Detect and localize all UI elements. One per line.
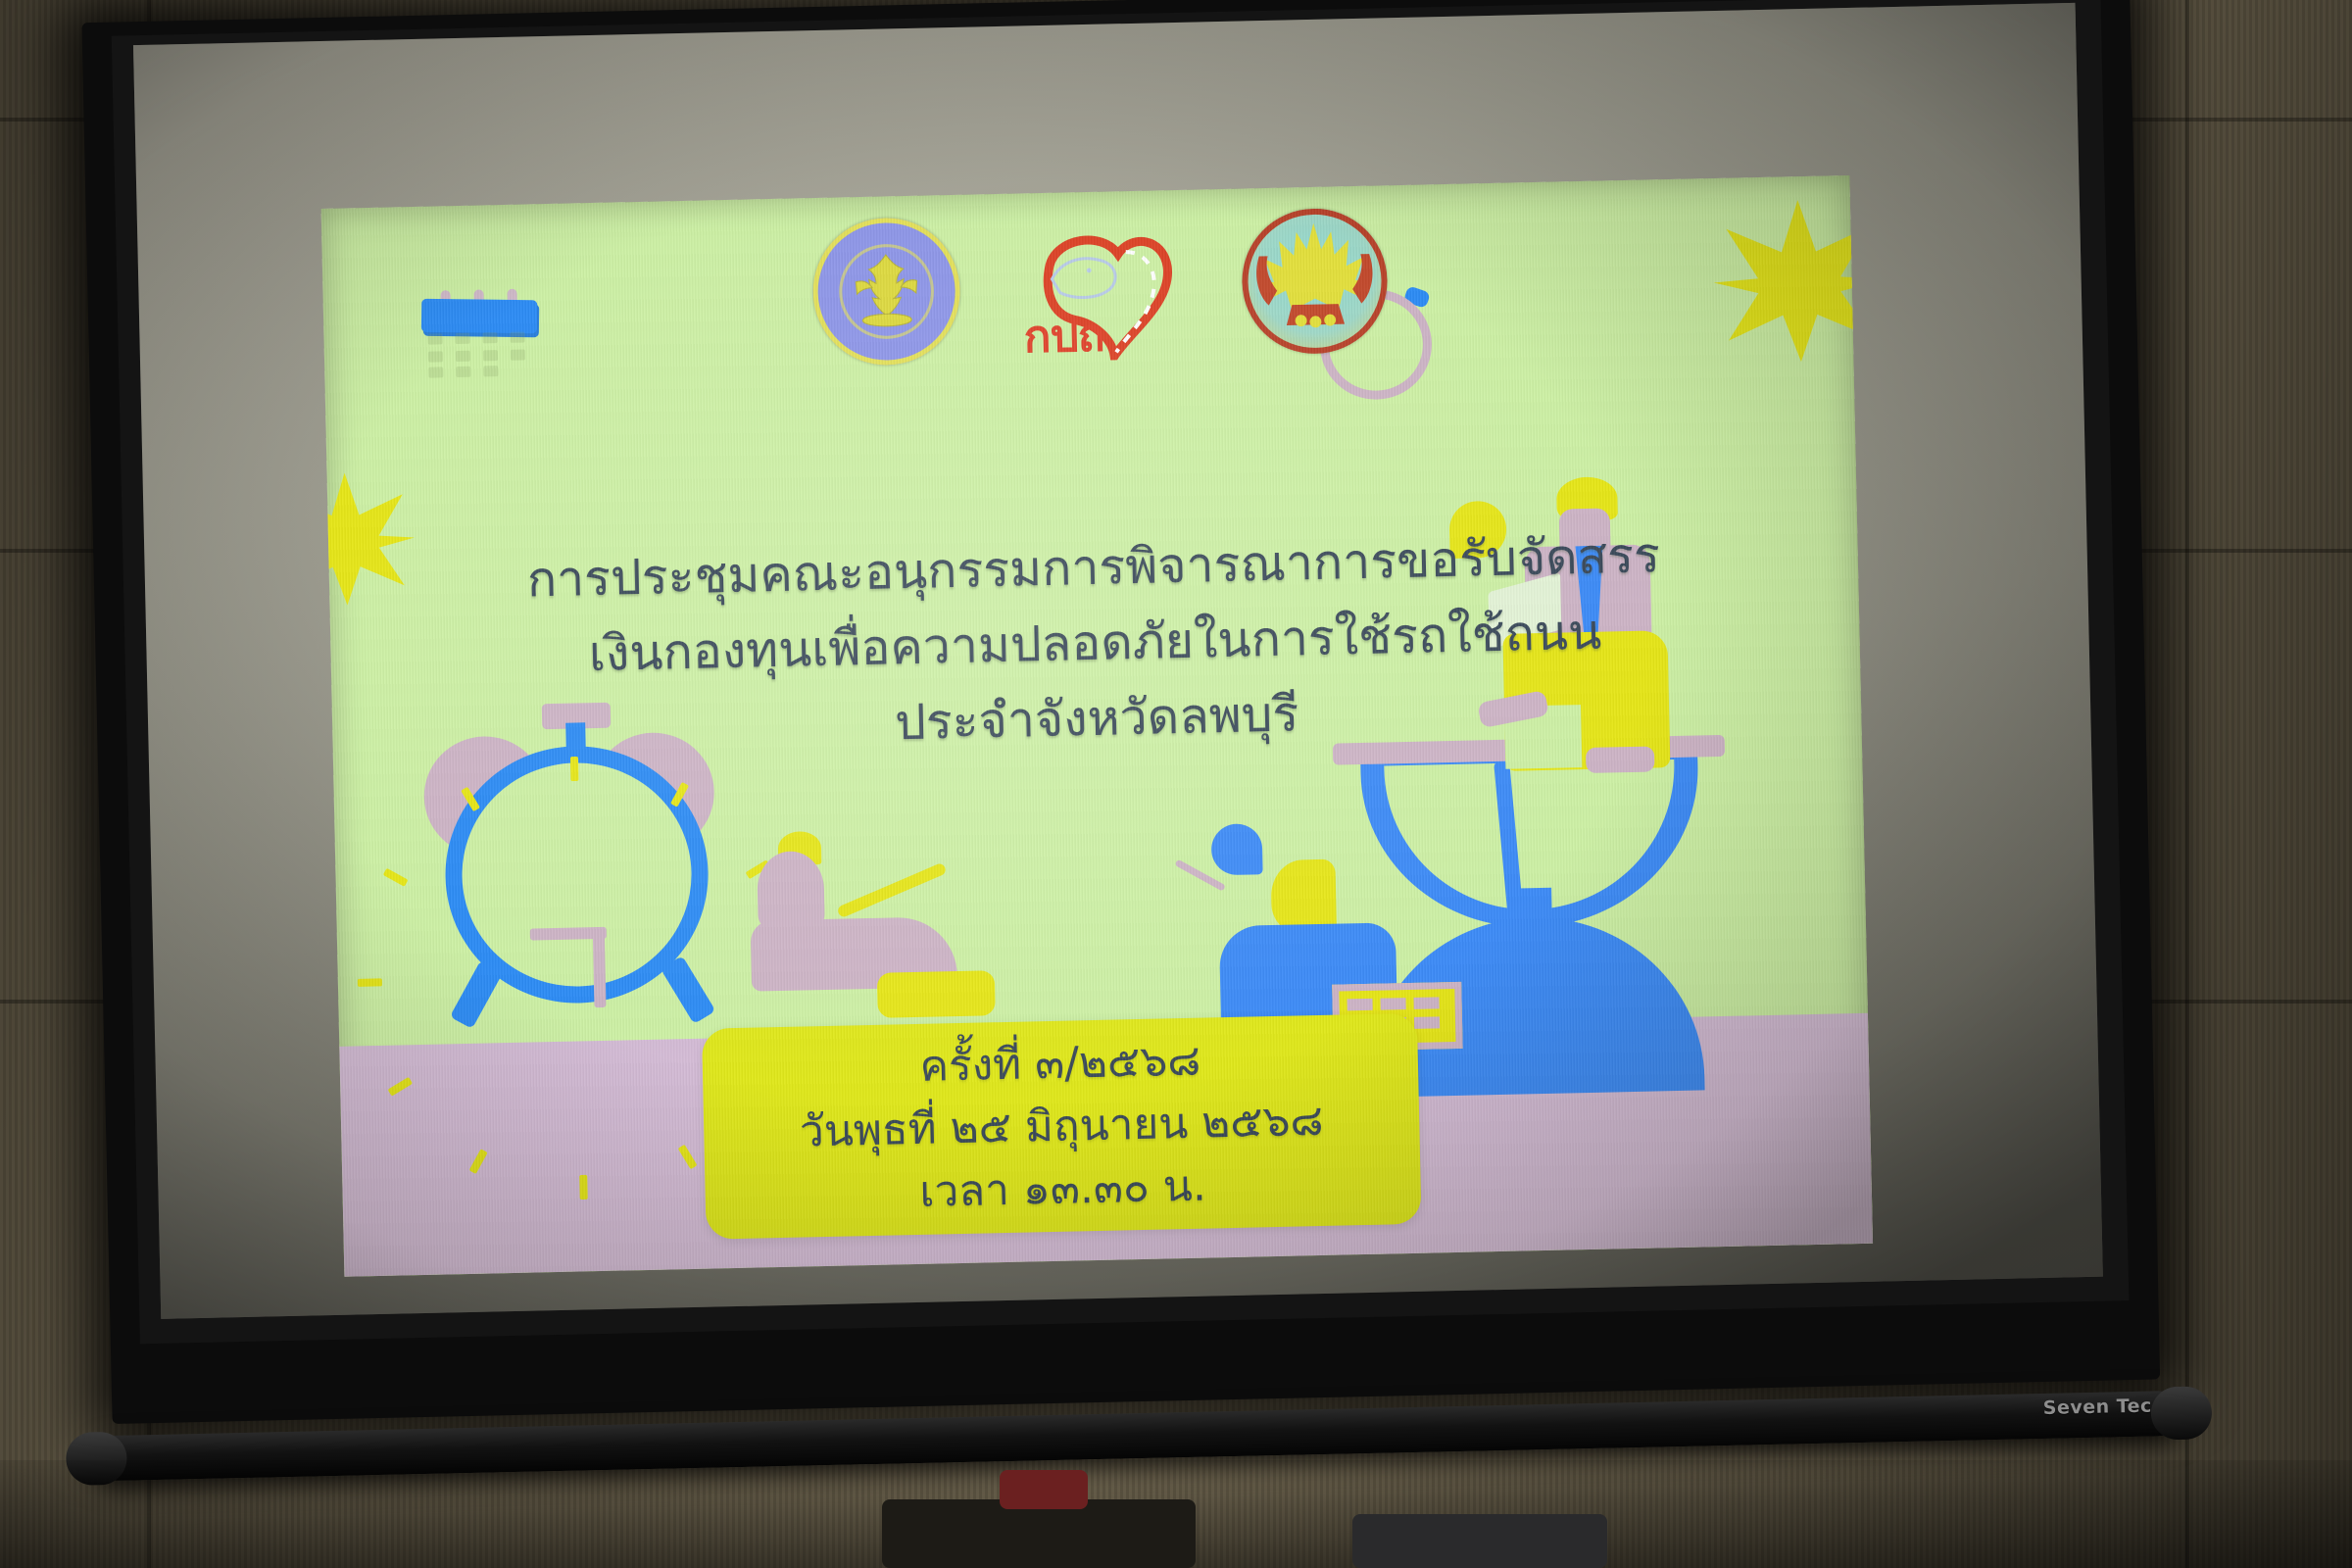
speech-bubble-blue xyxy=(1211,823,1263,875)
logo-row: กปถ xyxy=(811,207,1383,376)
calendar-header xyxy=(421,299,537,334)
info-line-date: วันพุธที่ ๒๕ มิถุนายน ๒๕๖๘ xyxy=(799,1089,1324,1163)
calendar-icon xyxy=(420,270,540,381)
foreground-laptop xyxy=(1352,1514,1607,1568)
kpt-logo-label: กปถ xyxy=(1023,300,1104,373)
projected-slide: กปถ xyxy=(321,175,1873,1277)
kpt-road-safety-logo-icon: กปถ xyxy=(1015,212,1195,363)
meeting-info-box: ครั้งที่ ๓/๒๕๖๘ วันพุธที่ ๒๕ มิถุนายน ๒๕… xyxy=(702,1013,1422,1240)
star-top-right-icon xyxy=(1712,198,1873,364)
person-hair xyxy=(1270,859,1337,933)
person-legs xyxy=(877,970,996,1018)
calendar-grid xyxy=(425,331,532,378)
projection-screen-assembly: กปถ xyxy=(23,0,2250,1543)
screen-brand-label: Seven Tec xyxy=(2043,1394,2220,1419)
garuda-ministry-seal-icon xyxy=(811,217,961,367)
person-head xyxy=(757,851,825,928)
person-arm xyxy=(836,862,947,919)
info-line-time: เวลา ๑๓.๓๐ น. xyxy=(919,1154,1207,1223)
slide-title-block: การประชุมคณะอนุกรรมการพิจารณาการขอรับจัด… xyxy=(328,514,1862,773)
person-reclining xyxy=(727,821,996,1013)
person-shoe xyxy=(1586,746,1655,773)
foreground-red-object xyxy=(1000,1470,1088,1509)
foreground-object xyxy=(882,1499,1196,1568)
lopburi-province-seal-icon xyxy=(1241,207,1389,355)
hourglass-neck xyxy=(1512,888,1552,950)
room-photo-scene: กปถ xyxy=(0,0,2352,1568)
clock-hour-hand xyxy=(593,927,607,1007)
info-line-occurrence: ครั้งที่ ๓/๒๕๖๘ xyxy=(919,1029,1201,1098)
